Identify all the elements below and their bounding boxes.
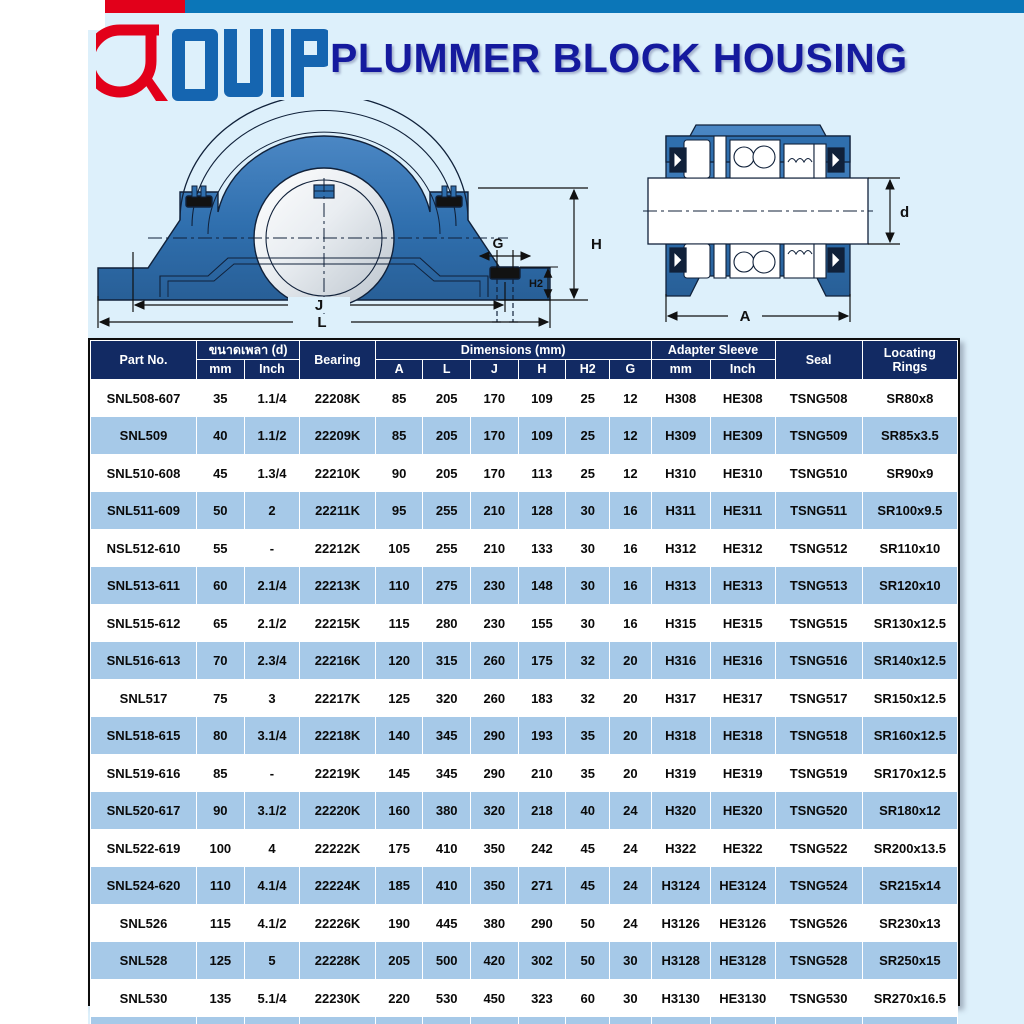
cell-seal: TSNG530 (775, 979, 862, 1017)
cell-shaft-mm: 100 (197, 829, 245, 867)
cell-bearing: 22215K (300, 604, 375, 642)
table-row: SNL5301355.1/422230K2205304503236030H313… (91, 979, 958, 1017)
cell-A: 95 (375, 492, 423, 530)
cell-A: 145 (375, 754, 423, 792)
cell-part-no: SNL522-619 (91, 829, 197, 867)
col-locating-rings: Locating Rings (862, 341, 957, 380)
cell-A: 105 (375, 529, 423, 567)
cell-part-no: SNL530 (91, 979, 197, 1017)
cell-adapter-mm: H312 (651, 529, 710, 567)
cell-H2: 30 (566, 604, 610, 642)
cell-shaft-inch: 1.3/4 (244, 454, 300, 492)
section-view (643, 125, 900, 322)
cell-bearing: 22208K (300, 379, 375, 417)
cell-adapter-mm: H3124 (651, 867, 710, 905)
cell-adapter-mm: H315 (651, 604, 710, 642)
cell-adapter-inch: HE320 (710, 792, 775, 830)
cell-H: 193 (518, 717, 566, 755)
cell-H: 183 (518, 679, 566, 717)
cell-locating-rings: SR160x12.5 (862, 717, 957, 755)
cell-adapter-inch: HE313 (710, 567, 775, 605)
col-part-no: Part No. (91, 341, 197, 380)
table-row: SNL520-617903.1/222220K1603803202184024H… (91, 792, 958, 830)
cell-bearing: 22209K (300, 417, 375, 455)
cell-H2: 25 (566, 379, 610, 417)
cell-bearing: 22210K (300, 454, 375, 492)
cell-A: 110 (375, 567, 423, 605)
cell-part-no: SNL511-609 (91, 492, 197, 530)
cell-seal: TSNG520 (775, 792, 862, 830)
cell-H2: 50 (566, 904, 610, 942)
cell-shaft-inch: 2.1/4 (244, 567, 300, 605)
cell-locating-rings: SR215x14 (862, 867, 957, 905)
cell-shaft-inch: 3.1/2 (244, 792, 300, 830)
cell-seal: TSNG516 (775, 642, 862, 680)
cell-H2: 45 (566, 829, 610, 867)
label-J-text: J (315, 297, 323, 314)
cell-shaft-mm: 140 (197, 1017, 245, 1024)
cell-shaft-inch: 2 (244, 492, 300, 530)
cell-bearing: 22211K (300, 492, 375, 530)
cell-J: 420 (471, 942, 519, 980)
table-row: SNL5321405.1/222232K2355304503236030H313… (91, 1017, 958, 1024)
cell-adapter-mm: H310 (651, 454, 710, 492)
cell-L: 410 (423, 867, 471, 905)
col-dim-l: L (423, 360, 471, 379)
table-head: Part No. ขนาดเพลา (d) Bearing Dimensions… (91, 341, 958, 380)
cell-H2: 50 (566, 942, 610, 980)
col-dim-h2: H2 (566, 360, 610, 379)
cell-seal: TSNG517 (775, 679, 862, 717)
table-row: SNL519-61685-22219K1453452902103520H319H… (91, 754, 958, 792)
cell-J: 260 (471, 642, 519, 680)
cell-shaft-mm: 85 (197, 754, 245, 792)
cell-adapter-inch: HE318 (710, 717, 775, 755)
cell-G: 12 (610, 417, 651, 455)
cell-L: 410 (423, 829, 471, 867)
cell-shaft-mm: 55 (197, 529, 245, 567)
cell-A: 125 (375, 679, 423, 717)
cell-bearing: 22224K (300, 867, 375, 905)
cell-bearing: 22217K (300, 679, 375, 717)
cell-seal: TSNG518 (775, 717, 862, 755)
cell-seal: TSNG509 (775, 417, 862, 455)
cell-G: 12 (610, 379, 651, 417)
cell-locating-rings: SR140x12.5 (862, 642, 957, 680)
cell-adapter-inch: HE310 (710, 454, 775, 492)
table-row: NSL512-61055-22212K1052552101333016H312H… (91, 529, 958, 567)
table-row: SNL508-607351.1/422208K852051701092512H3… (91, 379, 958, 417)
cell-A: 220 (375, 979, 423, 1017)
cell-H2: 45 (566, 867, 610, 905)
cell-adapter-inch: HE317 (710, 679, 775, 717)
cell-G: 16 (610, 492, 651, 530)
cell-adapter-inch: HE3132 (710, 1017, 775, 1024)
cell-H: 133 (518, 529, 566, 567)
cell-L: 320 (423, 679, 471, 717)
col-adapter-mm: mm (651, 360, 710, 379)
cell-shaft-mm: 115 (197, 904, 245, 942)
cell-adapter-mm: H318 (651, 717, 710, 755)
cell-H2: 32 (566, 642, 610, 680)
cell-G: 16 (610, 567, 651, 605)
cell-G: 24 (610, 904, 651, 942)
cell-bearing: 22218K (300, 717, 375, 755)
cell-G: 24 (610, 792, 651, 830)
cell-H2: 25 (566, 417, 610, 455)
cell-part-no: SNL526 (91, 904, 197, 942)
cell-seal: TSNG519 (775, 754, 862, 792)
cell-H2: 40 (566, 792, 610, 830)
cell-A: 190 (375, 904, 423, 942)
cell-shaft-inch: 4.1/4 (244, 867, 300, 905)
cell-A: 185 (375, 867, 423, 905)
cell-seal: TSNG532 (775, 1017, 862, 1024)
cell-H: 323 (518, 1017, 566, 1024)
label-H: H (591, 236, 602, 253)
cell-seal: TSNG522 (775, 829, 862, 867)
cell-adapter-inch: HE312 (710, 529, 775, 567)
label-L: L (317, 314, 326, 330)
cell-A: 205 (375, 942, 423, 980)
table-row: SNL513-611602.1/422213K1102752301483016H… (91, 567, 958, 605)
page-header: PLUMMER BLOCK HOUSING (0, 13, 1024, 98)
cell-shaft-mm: 65 (197, 604, 245, 642)
cell-H: 210 (518, 754, 566, 792)
cell-adapter-mm: H309 (651, 417, 710, 455)
cell-seal: TSNG512 (775, 529, 862, 567)
cell-L: 530 (423, 1017, 471, 1024)
cell-G: 20 (610, 717, 651, 755)
col-dim-j: J (471, 360, 519, 379)
cell-bearing: 22212K (300, 529, 375, 567)
front-view (98, 100, 550, 330)
header-row-1: Part No. ขนาดเพลา (d) Bearing Dimensions… (91, 341, 958, 360)
cell-shaft-inch: 2.1/2 (244, 604, 300, 642)
cell-H: 109 (518, 417, 566, 455)
quip-logo (96, 21, 328, 103)
col-adapter-inch: Inch (710, 360, 775, 379)
cell-H: 302 (518, 942, 566, 980)
cell-part-no: SNL519-616 (91, 754, 197, 792)
cell-shaft-mm: 80 (197, 717, 245, 755)
cell-adapter-mm: H3126 (651, 904, 710, 942)
cell-adapter-inch: HE316 (710, 642, 775, 680)
cell-adapter-inch: HE322 (710, 829, 775, 867)
col-shaft-inch: Inch (244, 360, 300, 379)
col-dim-g: G (610, 360, 651, 379)
cell-G: 24 (610, 867, 651, 905)
cell-H: 113 (518, 454, 566, 492)
cell-H2: 25 (566, 454, 610, 492)
cell-shaft-mm: 75 (197, 679, 245, 717)
cell-part-no: SNL509 (91, 417, 197, 455)
cell-locating-rings: SR90x9 (862, 454, 957, 492)
cell-locating-rings: SR170x12.5 (862, 754, 957, 792)
cell-L: 315 (423, 642, 471, 680)
col-bearing: Bearing (300, 341, 375, 380)
cell-shaft-mm: 45 (197, 454, 245, 492)
label-A: A (740, 308, 751, 325)
cell-adapter-inch: HE3126 (710, 904, 775, 942)
cell-bearing: 22226K (300, 904, 375, 942)
cell-seal: TSNG511 (775, 492, 862, 530)
label-H2: H2 (529, 278, 543, 290)
cell-shaft-inch: 5.1/2 (244, 1017, 300, 1024)
cell-G: 30 (610, 942, 651, 980)
locating-rings-line2: Rings (892, 360, 927, 374)
cell-locating-rings: SR250x15 (862, 942, 957, 980)
cell-H2: 30 (566, 567, 610, 605)
logo-q-tail-icon (145, 77, 168, 101)
table-row: SNL5261154.1/222226K1904453802905024H312… (91, 904, 958, 942)
cell-shaft-inch: 1.1/4 (244, 379, 300, 417)
cell-shaft-inch: 3 (244, 679, 300, 717)
cell-A: 235 (375, 1017, 423, 1024)
cell-L: 345 (423, 754, 471, 792)
cell-adapter-mm: H320 (651, 792, 710, 830)
cell-H2: 30 (566, 529, 610, 567)
cell-J: 170 (471, 417, 519, 455)
cell-part-no: SNL510-608 (91, 454, 197, 492)
cell-bearing: 22222K (300, 829, 375, 867)
cell-adapter-mm: H3132 (651, 1017, 710, 1024)
cell-H2: 60 (566, 979, 610, 1017)
cell-shaft-inch: 1.1/2 (244, 417, 300, 455)
cell-G: 12 (610, 454, 651, 492)
cell-H: 271 (518, 867, 566, 905)
col-group-dimensions: Dimensions (mm) (375, 341, 651, 360)
cell-locating-rings: SR290X17 (862, 1017, 957, 1024)
cell-bearing: 22220K (300, 792, 375, 830)
cell-L: 205 (423, 454, 471, 492)
cell-part-no: SNL508-607 (91, 379, 197, 417)
cell-shaft-mm: 60 (197, 567, 245, 605)
col-group-shaft-size: ขนาดเพลา (d) (197, 341, 300, 360)
cell-G: 30 (610, 1017, 651, 1024)
cell-shaft-inch: 3.1/4 (244, 717, 300, 755)
cell-J: 450 (471, 1017, 519, 1024)
cell-L: 380 (423, 792, 471, 830)
cell-L: 205 (423, 417, 471, 455)
cell-locating-rings: SR100x9.5 (862, 492, 957, 530)
cell-part-no: SNL516-613 (91, 642, 197, 680)
cell-locating-rings: SR150x12.5 (862, 679, 957, 717)
table-row: SNL522-619100422222K1754103502424524H322… (91, 829, 958, 867)
cell-bearing: 22219K (300, 754, 375, 792)
cell-seal: TSNG526 (775, 904, 862, 942)
cell-seal: TSNG524 (775, 867, 862, 905)
cell-J: 350 (471, 829, 519, 867)
cell-adapter-mm: H313 (651, 567, 710, 605)
cell-L: 255 (423, 529, 471, 567)
cell-adapter-inch: HE311 (710, 492, 775, 530)
datasheet-page: PLUMMER BLOCK HOUSING (0, 0, 1024, 1024)
cell-G: 16 (610, 604, 651, 642)
cell-adapter-mm: H322 (651, 829, 710, 867)
col-dim-h: H (518, 360, 566, 379)
cell-H: 218 (518, 792, 566, 830)
cell-J: 290 (471, 754, 519, 792)
cell-H: 242 (518, 829, 566, 867)
label-G: G (493, 235, 504, 251)
cell-J: 230 (471, 604, 519, 642)
cell-H2: 30 (566, 492, 610, 530)
cell-adapter-inch: HE308 (710, 379, 775, 417)
cell-H: 175 (518, 642, 566, 680)
table-row: SNL510-608451.3/422210K902051701132512H3… (91, 454, 958, 492)
cell-H: 109 (518, 379, 566, 417)
cell-shaft-inch: 4 (244, 829, 300, 867)
top-accent-bar-blue (185, 0, 1024, 13)
cell-adapter-inch: HE309 (710, 417, 775, 455)
table-row: SNL509401.1/222209K852051701092512H309HE… (91, 417, 958, 455)
cell-seal: TSNG528 (775, 942, 862, 980)
cell-H: 155 (518, 604, 566, 642)
cell-adapter-inch: HE315 (710, 604, 775, 642)
cell-adapter-mm: H319 (651, 754, 710, 792)
cell-J: 210 (471, 492, 519, 530)
cell-bearing: 22213K (300, 567, 375, 605)
cell-L: 275 (423, 567, 471, 605)
cell-A: 140 (375, 717, 423, 755)
cell-adapter-inch: HE3124 (710, 867, 775, 905)
cell-L: 445 (423, 904, 471, 942)
cell-J: 260 (471, 679, 519, 717)
table-body: SNL508-607351.1/422208K852051701092512H3… (91, 379, 958, 1024)
cell-adapter-mm: H3130 (651, 979, 710, 1017)
cell-bearing: 22232K (300, 1017, 375, 1024)
col-dim-a: A (375, 360, 423, 379)
cell-shaft-inch: 5 (244, 942, 300, 980)
cell-L: 530 (423, 979, 471, 1017)
cell-seal: TSNG510 (775, 454, 862, 492)
cell-adapter-mm: H316 (651, 642, 710, 680)
cell-part-no: SNL524-620 (91, 867, 197, 905)
cell-shaft-mm: 40 (197, 417, 245, 455)
cell-shaft-inch: 4.1/2 (244, 904, 300, 942)
cell-shaft-inch: 5.1/4 (244, 979, 300, 1017)
left-white-margin (0, 0, 88, 1024)
cell-A: 175 (375, 829, 423, 867)
cell-H2: 32 (566, 679, 610, 717)
cell-A: 160 (375, 792, 423, 830)
table-row: SNL524-6201104.1/422224K1854103502714524… (91, 867, 958, 905)
col-group-adapter-sleeve: Adapter Sleeve (651, 341, 775, 360)
cell-seal: TSNG508 (775, 379, 862, 417)
cell-adapter-inch: HE3128 (710, 942, 775, 980)
label-d: d (900, 204, 909, 221)
cell-L: 205 (423, 379, 471, 417)
cell-part-no: SNL513-611 (91, 567, 197, 605)
cell-locating-rings: SR200x13.5 (862, 829, 957, 867)
cell-J: 210 (471, 529, 519, 567)
cell-locating-rings: SR230x13 (862, 904, 957, 942)
cell-H: 148 (518, 567, 566, 605)
cell-A: 115 (375, 604, 423, 642)
cell-locating-rings: SR270x16.5 (862, 979, 957, 1017)
cell-shaft-inch: - (244, 754, 300, 792)
table-row: SNL516-613702.3/422216K1203152601753220H… (91, 642, 958, 680)
cell-H: 290 (518, 904, 566, 942)
cell-L: 280 (423, 604, 471, 642)
cell-J: 450 (471, 979, 519, 1017)
cell-J: 350 (471, 867, 519, 905)
cell-G: 20 (610, 679, 651, 717)
cell-G: 16 (610, 529, 651, 567)
page-title: PLUMMER BLOCK HOUSING (330, 35, 908, 82)
cell-G: 20 (610, 642, 651, 680)
cell-part-no: NSL512-610 (91, 529, 197, 567)
cell-shaft-mm: 125 (197, 942, 245, 980)
specification-table-container: Part No. ขนาดเพลา (d) Bearing Dimensions… (88, 338, 960, 1006)
cell-bearing: 22228K (300, 942, 375, 980)
technical-drawing: H G H2 J J (88, 100, 968, 330)
cell-G: 30 (610, 979, 651, 1017)
cell-L: 500 (423, 942, 471, 980)
cell-bearing: 22216K (300, 642, 375, 680)
table-row: SNL515-612652.1/222215K1152802301553016H… (91, 604, 958, 642)
cell-shaft-mm: 35 (197, 379, 245, 417)
cell-shaft-mm: 90 (197, 792, 245, 830)
cell-shaft-mm: 135 (197, 979, 245, 1017)
cell-shaft-mm: 70 (197, 642, 245, 680)
cell-locating-rings: SR180x12 (862, 792, 957, 830)
cell-H: 323 (518, 979, 566, 1017)
cell-A: 85 (375, 417, 423, 455)
cell-A: 120 (375, 642, 423, 680)
cell-adapter-mm: H3128 (651, 942, 710, 980)
table-row: SNL518-615803.1/422218K1403452901933520H… (91, 717, 958, 755)
cell-L: 255 (423, 492, 471, 530)
cell-A: 85 (375, 379, 423, 417)
cell-H: 128 (518, 492, 566, 530)
cell-shaft-mm: 50 (197, 492, 245, 530)
cell-locating-rings: SR85x3.5 (862, 417, 957, 455)
cell-adapter-mm: H317 (651, 679, 710, 717)
cell-part-no: SNL528 (91, 942, 197, 980)
table-row: SNL51775322217K1253202601833220H317HE317… (91, 679, 958, 717)
cell-J: 320 (471, 792, 519, 830)
cell-shaft-mm: 110 (197, 867, 245, 905)
cell-locating-rings: SR130x12.5 (862, 604, 957, 642)
cell-J: 290 (471, 717, 519, 755)
cell-part-no: SNL520-617 (91, 792, 197, 830)
cell-part-no: SNL517 (91, 679, 197, 717)
cell-H2: 35 (566, 717, 610, 755)
cell-part-no: SNL532 (91, 1017, 197, 1024)
col-seal: Seal (775, 341, 862, 380)
cell-J: 230 (471, 567, 519, 605)
cell-H2: 60 (566, 1017, 610, 1024)
col-shaft-mm: mm (197, 360, 245, 379)
cell-H2: 35 (566, 754, 610, 792)
cell-seal: TSNG513 (775, 567, 862, 605)
cell-adapter-mm: H311 (651, 492, 710, 530)
cell-locating-rings: SR80x8 (862, 379, 957, 417)
cell-part-no: SNL518-615 (91, 717, 197, 755)
cell-A: 90 (375, 454, 423, 492)
cell-G: 24 (610, 829, 651, 867)
specification-table: Part No. ขนาดเพลา (d) Bearing Dimensions… (90, 340, 958, 1024)
cell-part-no: SNL515-612 (91, 604, 197, 642)
cell-G: 20 (610, 754, 651, 792)
cell-J: 380 (471, 904, 519, 942)
logo-wordmark (172, 29, 328, 101)
cell-seal: TSNG515 (775, 604, 862, 642)
cell-locating-rings: SR120x10 (862, 567, 957, 605)
cell-bearing: 22230K (300, 979, 375, 1017)
